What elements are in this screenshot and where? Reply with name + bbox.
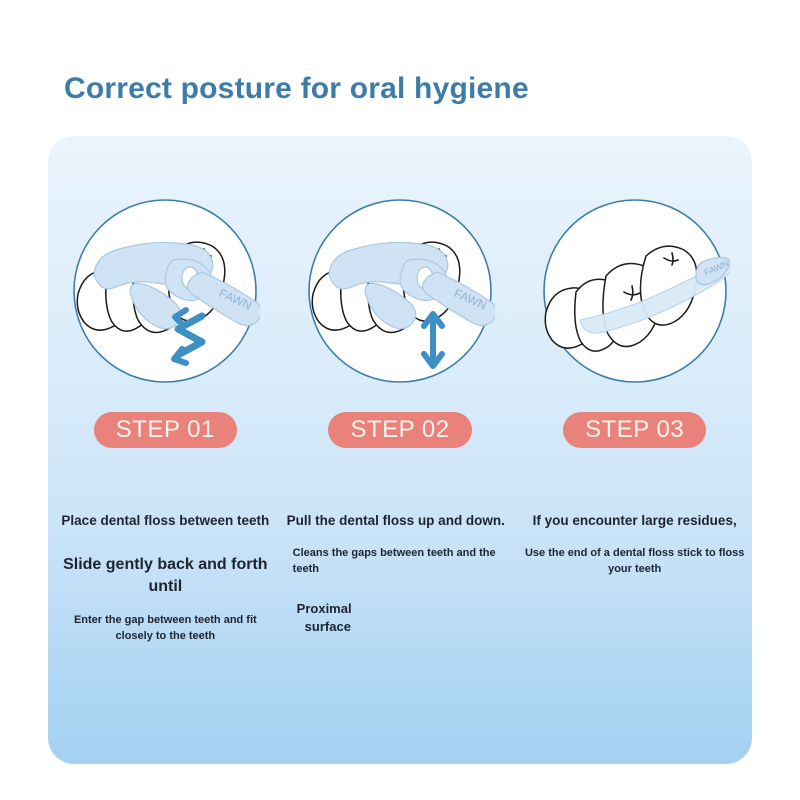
step-badge-2: STEP 02 [328,412,471,448]
illustration-step-2: FAWN [305,196,495,386]
step-1-lead-text: Place dental floss between teeth [54,512,277,530]
step-2-sub-text: Proximal surface [287,600,512,636]
illustration-step-3: FAWN [540,196,730,386]
step-badge-3: STEP 03 [563,412,706,448]
step-caption-3: If you encounter large residues, Use the… [517,512,752,578]
step-3-small-text: Use the end of a dental floss stick to f… [523,546,746,578]
step-column-2: FAWN STEP 02 Pull the dental floss up an… [283,136,518,764]
step-badge-1: STEP 01 [94,412,237,448]
step-caption-2: Pull the dental floss up and down. Clean… [283,512,518,636]
steps-row: FAWN STEP 01 Place dental floss between … [48,136,752,764]
step-2-small-text: Cleans the gaps between teeth and the te… [287,546,512,578]
step-caption-1: Place dental floss between teeth Slide g… [48,512,283,645]
step-1-small-text: Enter the gap between teeth and fit clos… [54,613,277,645]
infographic-panel: FAWN STEP 01 Place dental floss between … [48,136,752,764]
step-column-3: FAWN STEP 03 If you encounter large resi… [517,136,752,764]
step-2-sub-line-2: surface [297,618,512,636]
step-1-strong-text: Slide gently back and forth until [54,554,277,597]
step-3-lead-text: If you encounter large residues, [523,512,746,530]
step-column-1: FAWN STEP 01 Place dental floss between … [48,136,283,764]
page-title: Correct posture for oral hygiene [64,72,529,106]
step-2-sub-line-1: Proximal [297,601,352,616]
illustration-step-1: FAWN [70,196,260,386]
step-2-lead-text: Pull the dental floss up and down. [287,512,512,530]
